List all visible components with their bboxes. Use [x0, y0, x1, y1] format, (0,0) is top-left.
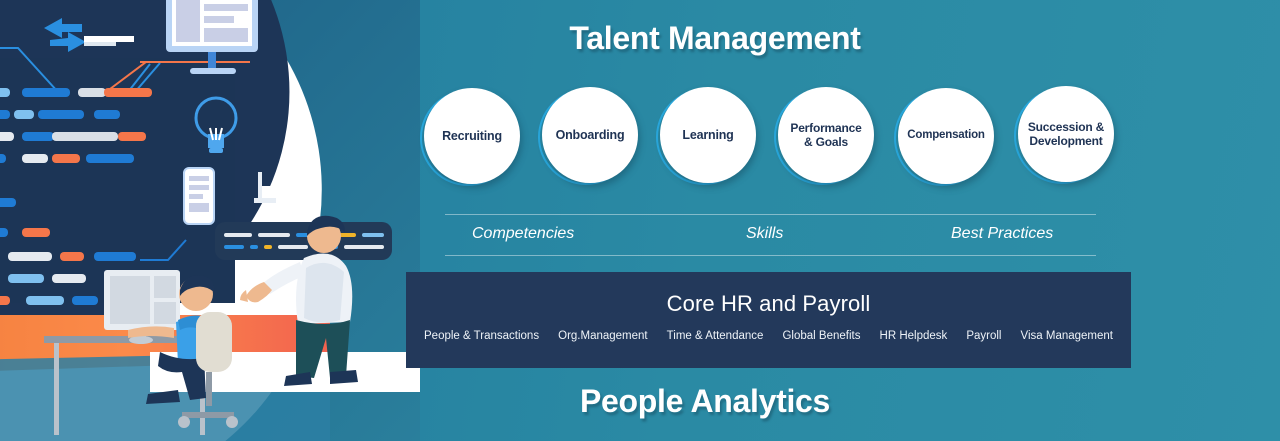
core-hr-payroll-panel: Core HR and Payroll People & Transaction…	[406, 272, 1131, 368]
page-title-talent-management: Talent Management	[0, 20, 1280, 57]
core-item-hr-helpdesk[interactable]: HR Helpdesk	[880, 330, 948, 342]
pillar-label: Succession &Development	[1023, 120, 1109, 148]
pillar-compensation[interactable]: Compensation	[898, 88, 994, 184]
pillar-succession-development[interactable]: Succession &Development	[1018, 86, 1114, 182]
band-item-best-practices: Best Practices	[951, 225, 1053, 243]
pillar-disc: Succession &Development	[1018, 86, 1114, 182]
pillar-label: Onboarding	[551, 128, 630, 143]
core-item-payroll[interactable]: Payroll	[966, 330, 1001, 342]
talent-pillars-row: Recruiting Onboarding Learning Performan…	[424, 84, 1124, 196]
band-item-competencies: Competencies	[472, 225, 574, 243]
pillar-performance-goals[interactable]: Performance& Goals	[778, 87, 874, 183]
pillar-disc: Learning	[660, 87, 756, 183]
pillar-onboarding[interactable]: Onboarding	[542, 87, 638, 183]
core-item-time-attendance[interactable]: Time & Attendance	[667, 330, 764, 342]
core-item-people-transactions[interactable]: People & Transactions	[424, 330, 539, 342]
core-hr-item-list: People & Transactions Org.Management Tim…	[424, 330, 1113, 342]
page-title-people-analytics: People Analytics	[0, 383, 1280, 420]
infographic-root: Talent Management Recruiting Onboarding …	[0, 0, 1280, 441]
band-item-skills: Skills	[746, 225, 783, 243]
floating-code-bar	[215, 222, 392, 260]
foundation-band: Competencies Skills Best Practices	[445, 214, 1096, 256]
pillar-disc: Recruiting	[424, 88, 520, 184]
pillar-disc: Compensation	[898, 88, 994, 184]
pillar-label: Compensation	[902, 129, 989, 143]
pillar-label: Performance& Goals	[785, 121, 866, 149]
pillar-learning[interactable]: Learning	[660, 87, 756, 183]
workplace-technology-illustration	[0, 0, 420, 441]
core-item-org-management[interactable]: Org.Management	[558, 330, 648, 342]
pillar-recruiting[interactable]: Recruiting	[424, 88, 520, 184]
pillar-label: Learning	[677, 128, 738, 143]
core-hr-title: Core HR and Payroll	[406, 291, 1131, 317]
smartphone-icon	[184, 168, 214, 224]
pillar-disc: Performance& Goals	[778, 87, 874, 183]
pillar-label: Recruiting	[437, 129, 507, 144]
core-item-global-benefits[interactable]: Global Benefits	[782, 330, 860, 342]
core-item-visa-management[interactable]: Visa Management	[1021, 330, 1113, 342]
pillar-disc: Onboarding	[542, 87, 638, 183]
